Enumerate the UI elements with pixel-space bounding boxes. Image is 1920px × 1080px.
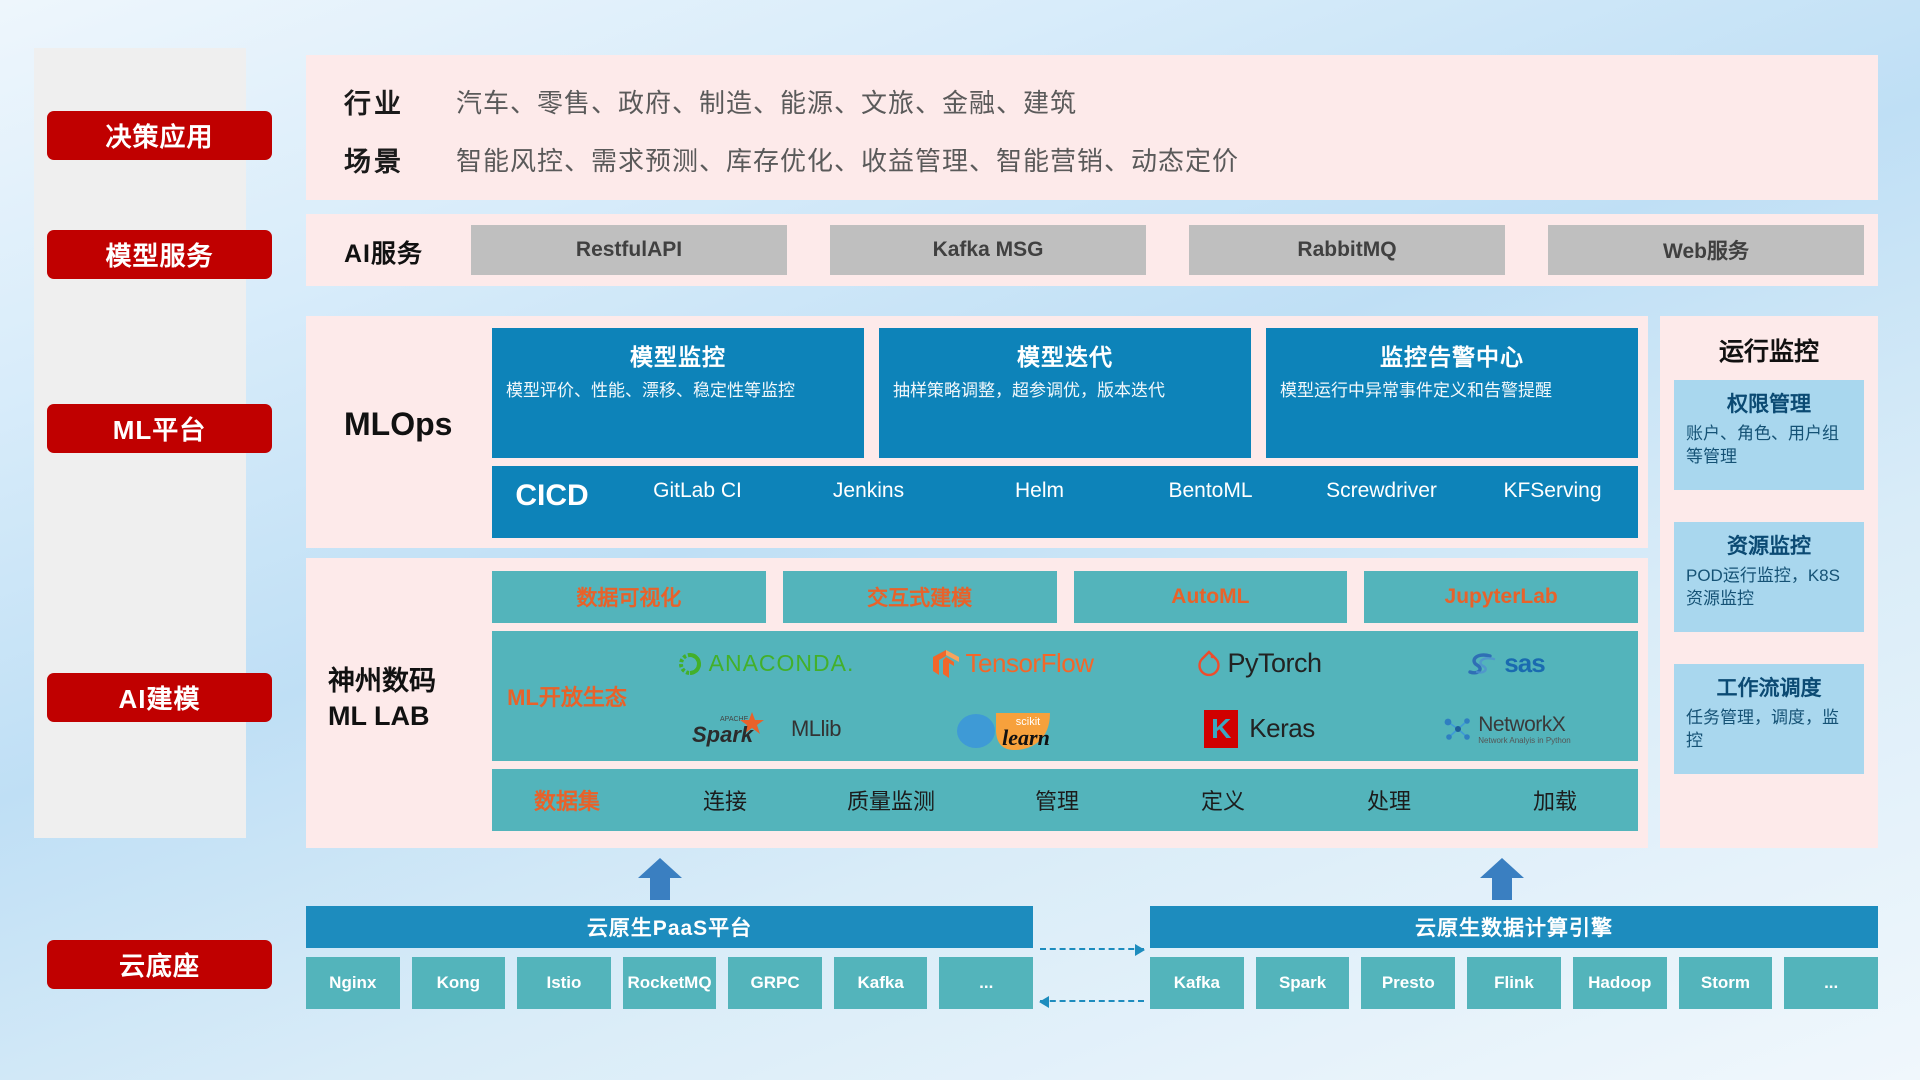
rail-tag-decision-app[interactable]: 决策应用	[47, 111, 272, 160]
paas-chip-row: Nginx Kong Istio RocketMQ GRPC Kafka ...	[306, 957, 1033, 1009]
scenario-label: 场景	[344, 140, 404, 179]
ai-service-chip-row: RestfulAPI Kafka MSG RabbitMQ Web服务	[471, 225, 1864, 275]
cicd-item[interactable]: Jenkins	[783, 479, 954, 503]
ml-lab-label-line1: 神州数码	[328, 666, 436, 696]
card-title: 工作流调度	[1686, 672, 1852, 702]
cicd-label: CICD	[492, 479, 612, 513]
industry-label: 行业	[344, 82, 404, 121]
runtime-monitor-title: 运行监控	[1660, 332, 1878, 368]
ml-lab-feature[interactable]: 交互式建模	[783, 571, 1057, 623]
rail-tag-label: AI建模	[118, 679, 200, 716]
rail-tag-label: 决策应用	[105, 117, 213, 154]
mlops-card-desc: 模型运行中异常事件定义和告警提醒	[1280, 380, 1624, 402]
mlops-card-row: 模型监控 模型评价、性能、漂移、稳定性等监控 模型迭代 抽样策略调整，超参调优，…	[492, 328, 1638, 458]
scikit-learn-icon: scikit learn	[954, 706, 1072, 752]
ml-lab-feature[interactable]: 数据可视化	[492, 571, 766, 623]
svg-text:Spark: Spark	[692, 722, 755, 747]
paas-chip[interactable]: Kong	[412, 957, 506, 1009]
card-desc: 账户、角色、用户组等管理	[1686, 423, 1852, 469]
resource-monitor-card[interactable]: 资源监控 POD运行监控，K8S资源监控	[1674, 522, 1864, 632]
compute-chip[interactable]: Hadoop	[1573, 957, 1667, 1009]
dataset-item[interactable]: 处理	[1306, 784, 1472, 816]
arrowhead-icon	[1135, 944, 1145, 956]
card-desc: POD运行监控，K8S资源监控	[1686, 565, 1852, 611]
sas-logo: sas	[1468, 648, 1544, 679]
tensorflow-logo: TensorFlow	[932, 648, 1094, 679]
ai-service-band: AI服务 RestfulAPI Kafka MSG RabbitMQ Web服务	[306, 214, 1878, 286]
industry-value: 汽车、零售、政府、制造、能源、文旅、金融、建筑	[456, 83, 1077, 120]
networkx-tagline: Network Analyis in Python	[1478, 737, 1571, 745]
spark-mllib-logo: APACHE Spark MLlib	[690, 710, 841, 748]
anaconda-label: ANACONDA.	[709, 650, 855, 677]
networkx-label: NetworkX	[1478, 713, 1565, 736]
dataset-item[interactable]: 连接	[642, 784, 808, 816]
dataset-item[interactable]: 加载	[1472, 784, 1638, 816]
paas-chip[interactable]: RocketMQ	[623, 957, 717, 1009]
paas-chip-more[interactable]: ...	[939, 957, 1033, 1009]
rail-tag-label: ML平台	[113, 410, 207, 447]
compute-chip[interactable]: Kafka	[1150, 957, 1244, 1009]
cicd-item[interactable]: GitLab CI	[612, 479, 783, 503]
paas-chip[interactable]: Istio	[517, 957, 611, 1009]
compute-chip[interactable]: Spark	[1256, 957, 1350, 1009]
anaconda-logo: ANACONDA.	[677, 650, 855, 677]
pytorch-logo: PyTorch	[1197, 648, 1321, 679]
industry-scenario-band: 行业 汽车、零售、政府、制造、能源、文旅、金融、建筑 场景 智能风控、需求预测、…	[306, 55, 1878, 200]
ml-lab-label: 神州数码 ML LAB	[328, 664, 488, 734]
arrow-up-right	[1480, 858, 1524, 900]
scenario-value: 智能风控、需求预测、库存优化、收益管理、智能营销、动态定价	[456, 141, 1239, 178]
mlops-band: MLOps 模型监控 模型评价、性能、漂移、稳定性等监控 模型迭代 抽样策略调整…	[306, 316, 1648, 548]
card-title: 资源监控	[1686, 530, 1852, 560]
dashed-connector-right	[1040, 948, 1144, 950]
cicd-row: CICD GitLab CI Jenkins Helm BentoML Scre…	[492, 466, 1638, 538]
rail-tag-ml-platform[interactable]: ML平台	[47, 404, 272, 453]
mlops-card-title: 监控告警中心	[1280, 338, 1624, 372]
paas-chip[interactable]: Kafka	[834, 957, 928, 1009]
tensorflow-label: TensorFlow	[966, 648, 1094, 679]
keras-logo: K Keras	[1204, 710, 1314, 748]
compute-chip-row: Kafka Spark Presto Flink Hadoop Storm ..…	[1150, 957, 1878, 1009]
arrowhead-icon	[1039, 996, 1049, 1008]
tensorflow-icon	[932, 649, 960, 679]
dataset-item[interactable]: 定义	[1140, 784, 1306, 816]
mlops-card[interactable]: 监控告警中心 模型运行中异常事件定义和告警提醒	[1266, 328, 1638, 458]
compute-chip[interactable]: Storm	[1679, 957, 1773, 1009]
ml-ecosystem-label: ML开放生态	[492, 680, 642, 712]
keras-icon: K	[1204, 710, 1238, 748]
ml-lab-label-line2: ML LAB	[328, 701, 430, 731]
cicd-item[interactable]: BentoML	[1125, 479, 1296, 503]
ai-service-chip[interactable]: Kafka MSG	[830, 225, 1146, 275]
mlops-card-desc: 抽样策略调整，超参调优，版本迭代	[893, 380, 1237, 402]
rail-tag-ai-modeling[interactable]: AI建模	[47, 673, 272, 722]
compute-chip[interactable]: Presto	[1361, 957, 1455, 1009]
mllib-label: MLlib	[791, 716, 841, 742]
ai-service-chip[interactable]: RabbitMQ	[1189, 225, 1505, 275]
data-compute-engine-bar: 云原生数据计算引擎	[1150, 906, 1878, 948]
workflow-scheduler-card[interactable]: 工作流调度 任务管理，调度，监控	[1674, 664, 1864, 774]
mlops-card[interactable]: 模型迭代 抽样策略调整，超参调优，版本迭代	[879, 328, 1251, 458]
spark-icon: APACHE Spark	[690, 710, 785, 748]
card-desc: 任务管理，调度，监控	[1686, 707, 1852, 753]
sas-icon	[1468, 651, 1498, 677]
anaconda-icon	[677, 651, 703, 677]
runtime-monitor-panel: 运行监控 权限管理 账户、角色、用户组等管理 资源监控 POD运行监控，K8S资…	[1660, 316, 1878, 848]
dataset-label: 数据集	[492, 784, 642, 816]
ai-service-chip[interactable]: Web服务	[1548, 225, 1864, 275]
ai-service-label: AI服务	[344, 234, 423, 270]
paas-chip[interactable]: GRPC	[728, 957, 822, 1009]
networkx-logo: NetworkX Network Analyis in Python	[1442, 713, 1571, 745]
compute-chip[interactable]: Flink	[1467, 957, 1561, 1009]
arrow-up-left	[638, 858, 682, 900]
paas-platform-bar: 云原生PaaS平台	[306, 906, 1033, 948]
cicd-item[interactable]: Screwdriver	[1296, 479, 1467, 503]
mlops-card-title: 模型监控	[506, 338, 850, 372]
mlops-card[interactable]: 模型监控 模型评价、性能、漂移、稳定性等监控	[492, 328, 864, 458]
paas-chip[interactable]: Nginx	[306, 957, 400, 1009]
mlops-label: MLOps	[344, 406, 452, 443]
pytorch-icon	[1197, 650, 1221, 678]
rail-tag-cloud-base[interactable]: 云底座	[47, 940, 272, 989]
rail-tag-model-service[interactable]: 模型服务	[47, 230, 272, 279]
permission-management-card[interactable]: 权限管理 账户、角色、用户组等管理	[1674, 380, 1864, 490]
pytorch-label: PyTorch	[1227, 648, 1321, 679]
dataset-row: 数据集 连接 质量监测 管理 定义 处理 加载	[492, 769, 1638, 831]
ml-lab-feature[interactable]: JupyterLab	[1364, 571, 1638, 623]
dataset-item[interactable]: 质量监测	[808, 784, 974, 816]
dashed-connector-left	[1040, 1000, 1144, 1002]
compute-chip-more[interactable]: ...	[1784, 957, 1878, 1009]
networkx-icon	[1442, 714, 1472, 744]
keras-label: Keras	[1249, 713, 1314, 744]
rail-tag-label: 模型服务	[105, 236, 213, 273]
mlops-card-desc: 模型评价、性能、漂移、稳定性等监控	[506, 380, 850, 402]
ml-lab-feature[interactable]: AutoML	[1074, 571, 1348, 623]
learn-word: learn	[1002, 725, 1050, 750]
cicd-item[interactable]: KFServing	[1467, 479, 1638, 503]
ai-service-chip[interactable]: RestfulAPI	[471, 225, 787, 275]
mlops-card-title: 模型迭代	[893, 338, 1237, 372]
sas-label: sas	[1504, 648, 1544, 679]
ml-ecosystem-row: ML开放生态 ANACONDA. TensorFlow	[492, 631, 1638, 761]
architecture-diagram: 决策应用 模型服务 ML平台 AI建模 云底座 行业 汽车、零售、政府、制造、能…	[0, 0, 1920, 1080]
ml-ecosystem-logo-grid: ANACONDA. TensorFlow PyTorch	[642, 631, 1638, 761]
scikit-learn-logo: scikit learn	[954, 706, 1072, 752]
ml-lab-feature-row: 数据可视化 交互式建模 AutoML JupyterLab	[492, 571, 1638, 623]
cicd-item[interactable]: Helm	[954, 479, 1125, 503]
rail-tag-label: 云底座	[119, 946, 200, 983]
card-title: 权限管理	[1686, 388, 1852, 418]
dataset-item[interactable]: 管理	[974, 784, 1140, 816]
ml-lab-band: 神州数码 ML LAB 数据可视化 交互式建模 AutoML JupyterLa…	[306, 558, 1648, 848]
